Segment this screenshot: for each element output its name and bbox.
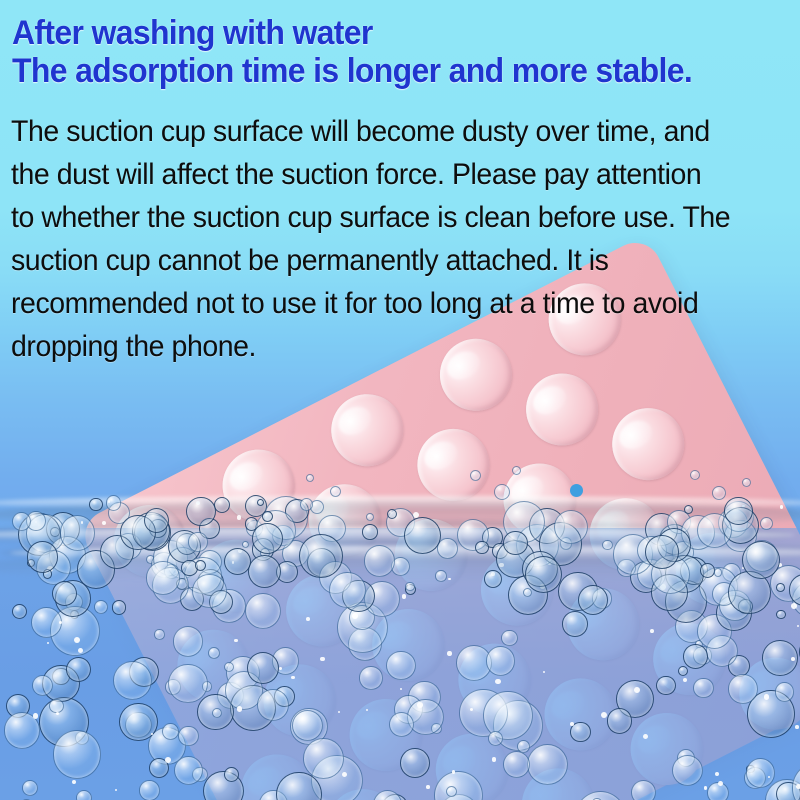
headline: After washing with water The adsorption … xyxy=(12,14,751,90)
water-bubble xyxy=(776,583,785,592)
water-bubble xyxy=(330,486,341,497)
water-bubble xyxy=(359,666,382,689)
water-bubble xyxy=(186,497,216,527)
water-bubble xyxy=(329,572,366,609)
water-sparkle xyxy=(650,629,654,633)
water-bubble xyxy=(645,535,679,569)
suction-cup xyxy=(405,416,502,513)
water-bubble xyxy=(192,574,226,608)
water-bubble xyxy=(212,708,222,718)
water-bubble xyxy=(362,524,378,540)
water-sparkle xyxy=(72,780,76,784)
water-bubble xyxy=(386,651,415,680)
water-bubble xyxy=(746,758,776,788)
water-sparkle xyxy=(643,734,648,739)
body-line: The suction cup surface will become dust… xyxy=(11,110,773,153)
suction-cup xyxy=(514,361,611,458)
water-bubble xyxy=(292,710,323,741)
water-bubble xyxy=(712,486,726,500)
water-bubble xyxy=(503,751,530,778)
body-line: the dust will affect the suction force. … xyxy=(11,153,773,196)
water-bubble xyxy=(602,540,613,551)
suction-cup xyxy=(319,382,416,479)
water-bubble xyxy=(470,470,481,481)
water-bubble xyxy=(503,531,527,555)
body-paragraph: The suction cup surface will become dust… xyxy=(11,110,773,368)
water-bubble xyxy=(501,630,518,647)
water-sparkle xyxy=(634,687,640,693)
body-line: dropping the phone. xyxy=(11,325,773,368)
water-bubble xyxy=(31,607,62,638)
headline-line-1: After washing with water xyxy=(12,14,751,52)
water-bubble xyxy=(742,541,780,579)
water-bubble xyxy=(173,626,204,657)
water-sparkle xyxy=(448,578,450,580)
water-bubble xyxy=(53,730,101,778)
water-sparkle xyxy=(718,781,723,786)
water-bubble xyxy=(76,790,92,800)
water-bubble xyxy=(162,723,179,740)
product-marketing-image: After washing with water The adsorption … xyxy=(0,0,800,800)
water-bubble xyxy=(693,678,714,699)
water-bubble xyxy=(683,644,708,669)
water-bubble xyxy=(89,498,103,512)
water-sparkle xyxy=(492,757,496,761)
water-bubble xyxy=(512,466,521,475)
water-bubble xyxy=(776,610,786,620)
water-sparkle xyxy=(165,757,171,763)
water-bubble xyxy=(437,538,458,559)
water-bubble xyxy=(27,541,58,572)
water-bubble xyxy=(303,738,344,779)
water-bubble xyxy=(494,484,510,500)
water-bubble xyxy=(247,652,279,684)
water-bubble xyxy=(486,646,516,676)
water-bubble xyxy=(224,548,251,575)
water-bubble xyxy=(554,510,588,544)
water-bubble xyxy=(60,515,96,551)
water-sparkle xyxy=(417,702,423,708)
water-sparkle xyxy=(452,770,455,773)
water-bubble xyxy=(742,478,751,487)
water-bubble xyxy=(306,474,314,482)
water-bubble xyxy=(119,703,158,742)
body-line: to whether the suction cup surface is cl… xyxy=(11,196,773,239)
water-bubble xyxy=(245,593,281,629)
water-bubble xyxy=(12,604,27,619)
water-bubble xyxy=(578,585,608,615)
suction-cup xyxy=(600,396,697,493)
water-bubble xyxy=(475,541,488,554)
water-bubble xyxy=(154,629,164,639)
body-line: suction cup cannot be permanently attach… xyxy=(11,239,773,282)
water-sparkle xyxy=(74,637,80,643)
water-bubble xyxy=(49,699,63,713)
water-sparkle xyxy=(791,657,795,661)
water-bubble xyxy=(214,497,230,513)
water-bubble xyxy=(168,664,207,703)
water-sparkle xyxy=(400,688,402,690)
water-bubble xyxy=(188,532,207,551)
body-line: recommended not to use it for too long a… xyxy=(11,282,773,325)
water-bubble xyxy=(714,568,722,576)
water-bubble xyxy=(387,509,397,519)
water-sparkle xyxy=(78,648,83,653)
water-bubble xyxy=(488,731,504,747)
water-sparkle xyxy=(102,521,106,525)
blue-water-droplet xyxy=(570,484,583,497)
water-sparkle xyxy=(601,712,607,718)
water-bubble xyxy=(607,708,633,734)
water-sparkle xyxy=(426,785,430,789)
water-bubble xyxy=(684,505,693,514)
water-bubble xyxy=(299,534,343,578)
water-bubble xyxy=(257,689,289,721)
water-bubble xyxy=(400,748,430,778)
water-bubble xyxy=(562,611,588,637)
water-bubble xyxy=(178,726,198,746)
water-bubble xyxy=(728,674,758,704)
water-bubble xyxy=(146,561,179,594)
water-bubble xyxy=(690,470,700,480)
water-sparkle xyxy=(234,639,238,643)
water-bubble xyxy=(112,600,126,614)
water-bubble xyxy=(435,570,447,582)
water-bubble xyxy=(139,780,160,800)
water-bubble xyxy=(724,497,753,526)
headline-line-2: The adsorption time is longer and more s… xyxy=(12,52,751,90)
water-sparkle xyxy=(791,603,797,609)
water-bubble xyxy=(106,495,121,510)
water-sparkle xyxy=(796,784,800,789)
water-sparkle xyxy=(447,651,451,655)
water-bubble xyxy=(404,517,441,554)
water-bubble xyxy=(389,712,414,737)
water-sparkle xyxy=(795,725,799,729)
water-sparkle xyxy=(570,722,574,726)
water-bubble xyxy=(631,780,656,800)
water-sparkle xyxy=(306,617,310,621)
water-bubble xyxy=(300,498,313,511)
